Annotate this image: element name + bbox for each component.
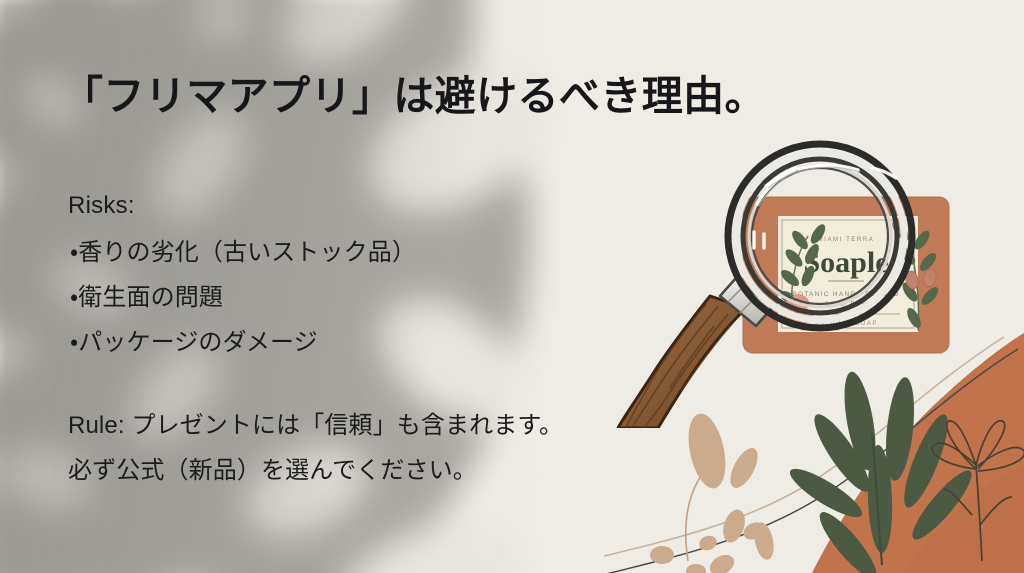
risks-list: ・香りの劣化（古いストック品） ・衛生面の問題 ・パッケージのダメージ xyxy=(70,230,416,365)
risks-heading: Risks: xyxy=(68,192,135,220)
magnifying-glass-icon xyxy=(614,128,974,428)
rule-block: Rule: プレゼントには「信頼」も含まれます。 必ず公式（新品）を選んでくださ… xyxy=(68,404,563,493)
slide-canvas: MIAMI TERRA Soaple BOTANIC HAND PRESSED … xyxy=(0,0,1024,573)
rule-line-2: 必ず公式（新品）を選んでください。 xyxy=(68,449,563,494)
list-item: ・パッケージのダメージ xyxy=(70,320,416,365)
list-item: ・香りの劣化（古いストック品） xyxy=(70,230,416,275)
page-title: 「フリマアプリ」は避けるべき理由。 xyxy=(62,62,766,122)
list-item: ・衛生面の問題 xyxy=(70,275,416,320)
rule-line-1: Rule: プレゼントには「信頼」も含まれます。 xyxy=(68,404,563,449)
